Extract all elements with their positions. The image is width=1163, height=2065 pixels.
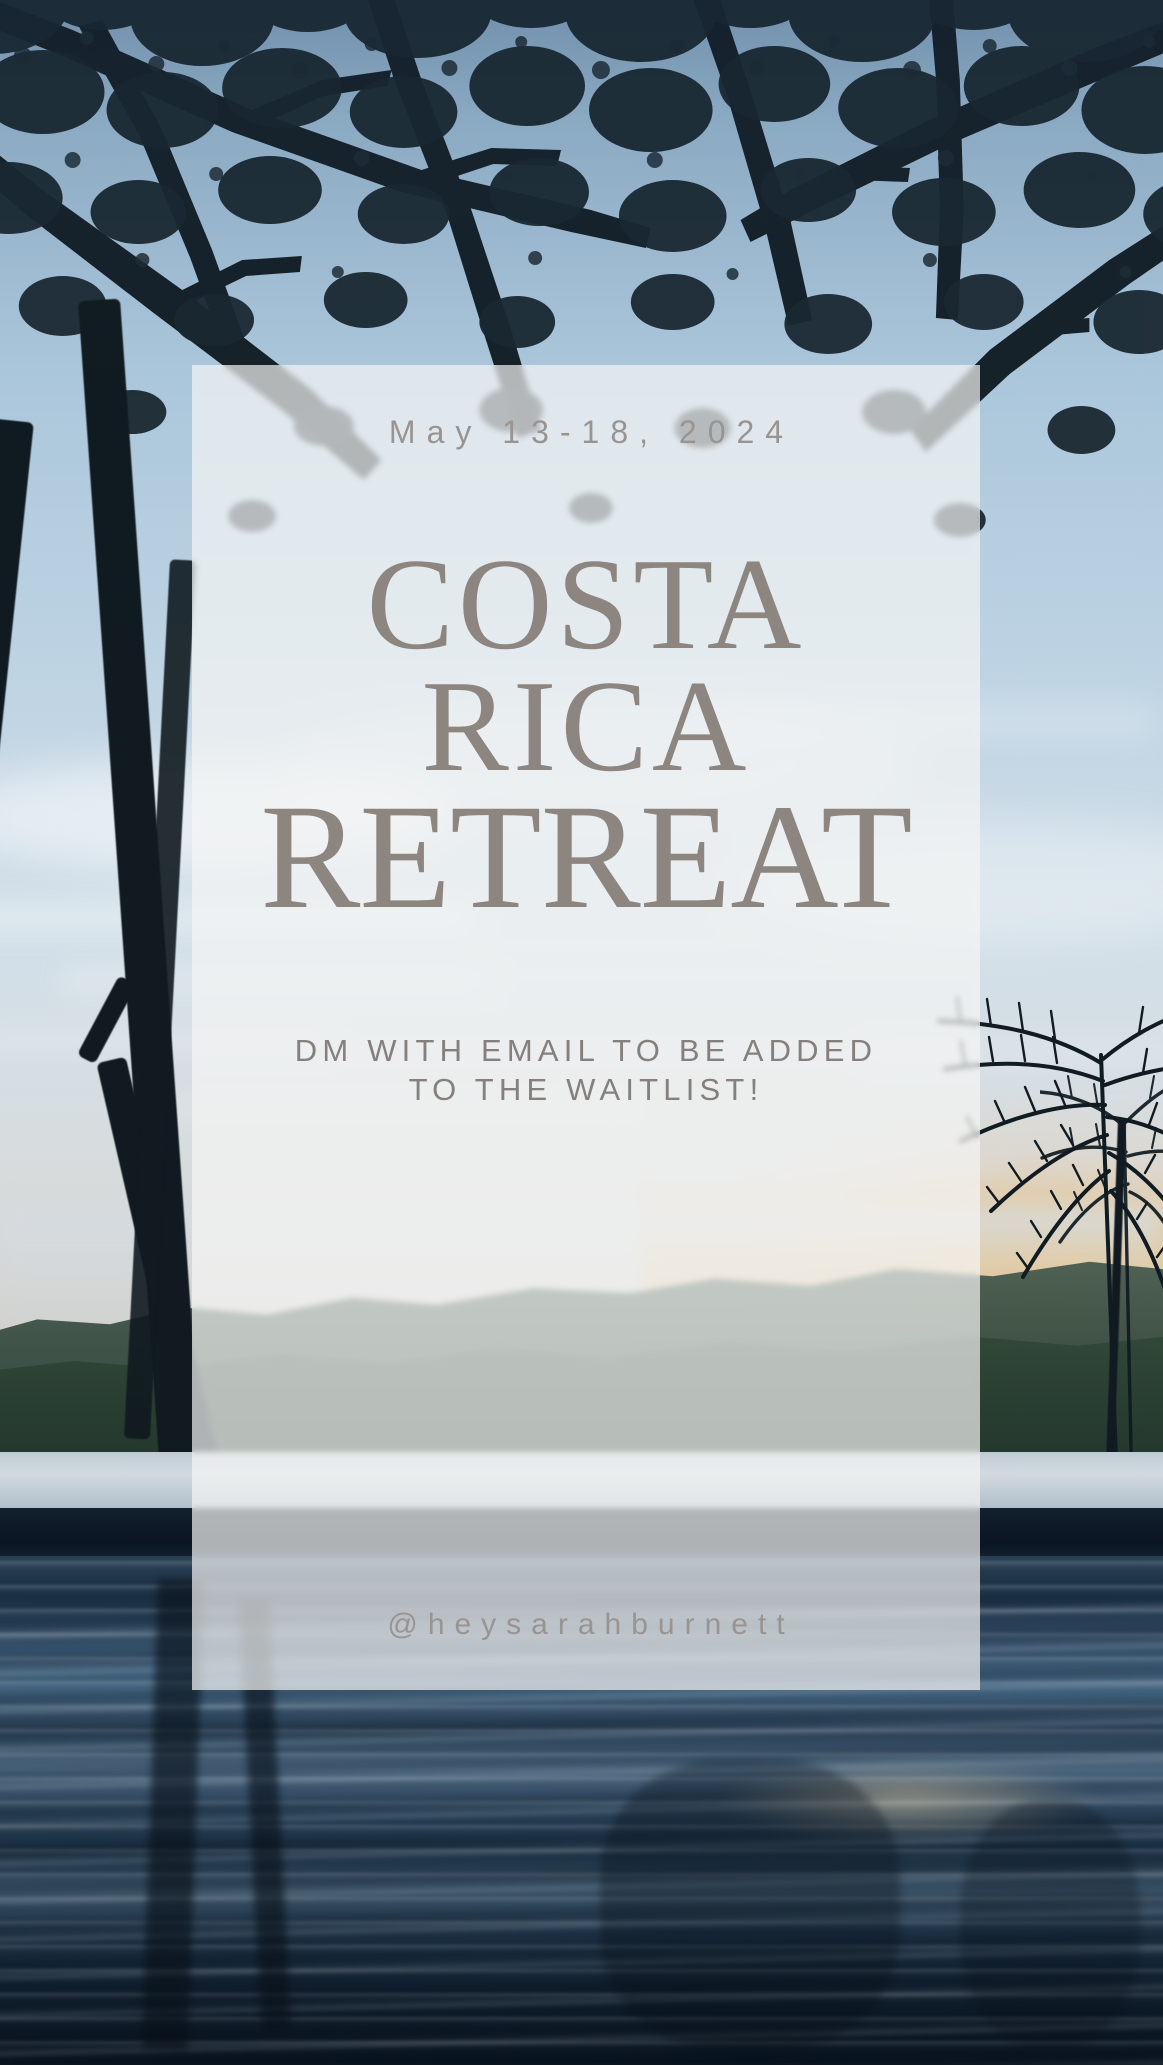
event-title: COSTA RICA RETREAT [192,544,980,927]
retreat-poster: May 13-18, 2024 COSTA RICA RETREAT DM WI… [0,0,1163,2065]
tree-fern-right-short [1040,1060,1163,1500]
water-reflection-canopy [600,1760,900,2050]
event-date: May 13-18, 2024 [378,414,794,451]
call-to-action-text: DM WITH EMAIL TO BE ADDED TO THE WAITLIS… [266,1031,906,1109]
title-line-3: RETREAT [192,788,980,928]
title-line-2: RICA [192,666,980,788]
water-reflection-fern [960,1800,1140,2050]
social-handle: @heysarahburnett [192,1608,980,1642]
title-line-1: COSTA [192,544,980,666]
overlay-card: May 13-18, 2024 COSTA RICA RETREAT DM WI… [192,365,980,1690]
